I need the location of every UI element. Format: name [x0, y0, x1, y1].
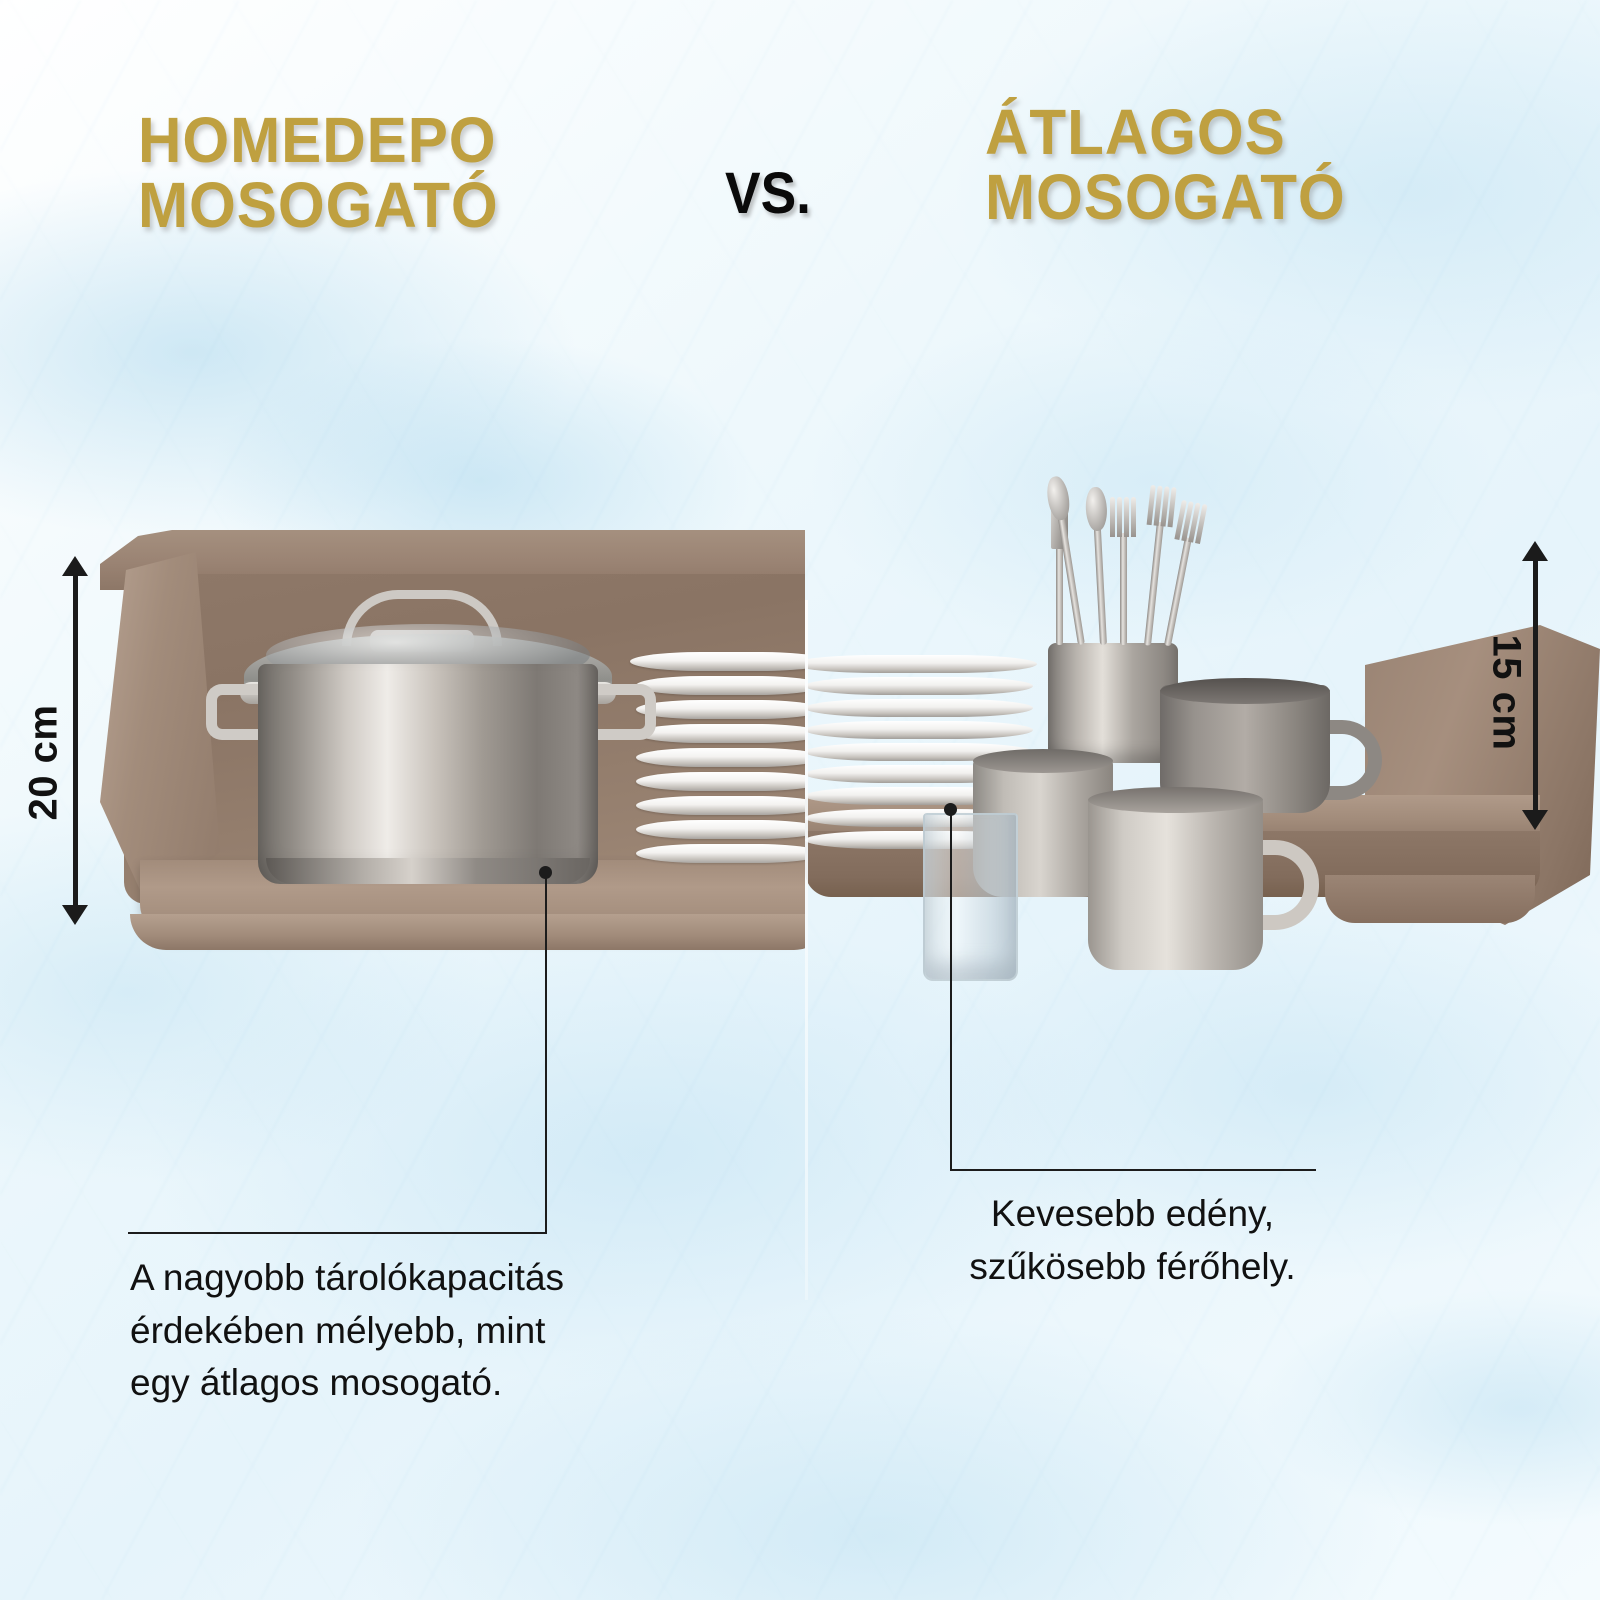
- shallow-sink-graphic: [805, 495, 1600, 885]
- plate-stack-left: [636, 652, 805, 902]
- right-dimension-label: 15 cm: [1483, 635, 1528, 751]
- left-callout-horizontal-line: [128, 1232, 547, 1234]
- cutlery-holder: [1048, 643, 1178, 763]
- comparison-photo-band: [0, 300, 1600, 1000]
- left-caption-text: A nagyobb tárolókapacitás érdekében mély…: [130, 1252, 670, 1410]
- mug-light: [1088, 795, 1263, 970]
- panel-divider: [805, 600, 808, 1300]
- stock-pot-graphic: [200, 590, 660, 890]
- left-callout-vertical-line: [545, 873, 547, 1233]
- left-photo-panel: [0, 300, 805, 1000]
- mug-dark-interior: [1160, 678, 1330, 704]
- left-dimension-label: 20 cm: [21, 705, 66, 821]
- mug-middle-interior: [973, 749, 1113, 773]
- drinking-glass: [923, 813, 1018, 981]
- right-photo-panel: [805, 300, 1600, 1000]
- versus-label: VS.: [725, 160, 811, 227]
- left-product-title: HOMEDEPO MOSOGATÓ: [138, 108, 499, 239]
- sink-front-lip: [1325, 875, 1535, 923]
- right-callout-horizontal-line: [950, 1169, 1316, 1171]
- right-caption-text: Kevesebb edény, szűkösebb férőhely.: [900, 1188, 1365, 1293]
- right-product-title: ÁTLAGOS MOSOGATÓ: [985, 100, 1346, 231]
- mug-light-interior: [1088, 787, 1263, 813]
- pot-body: [258, 664, 598, 884]
- sink-front-lip: [130, 914, 805, 950]
- right-callout-vertical-line: [950, 810, 952, 1170]
